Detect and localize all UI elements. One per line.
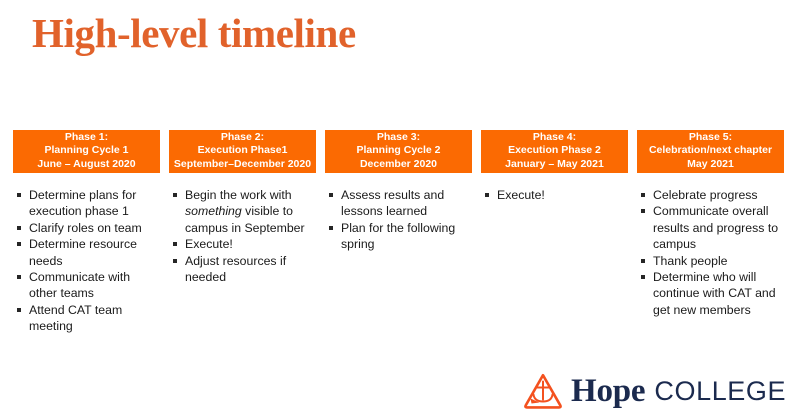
- phase-body: Determine plans for execution phase 1Cla…: [13, 173, 160, 335]
- phase-header-line: Execution Phase 2: [508, 144, 601, 157]
- bullet-text: Determine who will continue with CAT and…: [653, 270, 776, 317]
- bullet-text: Execute!: [185, 237, 233, 251]
- bullet-text: Determine plans for execution phase 1: [29, 188, 136, 218]
- bullet-text: Communicate overall results and progress…: [653, 204, 778, 251]
- list-item: Assess results and lessons learned: [328, 187, 472, 220]
- page-title: High-level timeline: [32, 8, 356, 58]
- phase-header-line: Phase 1:: [65, 131, 108, 144]
- bullet-text: Determine resource needs: [29, 237, 137, 267]
- bullet-text-emphasis: something: [185, 204, 242, 218]
- bullet-text: Attend CAT team meeting: [29, 303, 122, 333]
- phase-bullet-list: Begin the work with something visible to…: [169, 187, 316, 285]
- phase-header-line: Phase 5:: [689, 131, 732, 144]
- phase-header-line: September–December 2020: [174, 158, 311, 171]
- list-item: Execute!: [484, 187, 628, 203]
- phase-header-line: June – August 2020: [37, 158, 135, 171]
- bullet-text: Thank people: [653, 254, 728, 268]
- phase-bullet-list: Execute!: [481, 187, 628, 203]
- list-item: Communicate overall results and progress…: [640, 203, 784, 252]
- phase-body: Begin the work with something visible to…: [169, 173, 316, 285]
- phase-header-line: Planning Cycle 2: [356, 144, 440, 157]
- phase-body: Celebrate progressCommunicate overall re…: [637, 173, 784, 318]
- phase-header-3: Phase 3:Planning Cycle 2December 2020: [325, 130, 472, 173]
- list-item: Execute!: [172, 236, 316, 252]
- list-item: Attend CAT team meeting: [16, 302, 160, 335]
- phase-header-2: Phase 2:Execution Phase1September–Decemb…: [169, 130, 316, 173]
- hope-college-logo: Hope COLLEGE: [522, 371, 786, 411]
- bullet-text: Execute!: [497, 188, 545, 202]
- list-item: Determine who will continue with CAT and…: [640, 269, 784, 318]
- list-item: Determine resource needs: [16, 236, 160, 269]
- phase-header-line: Execution Phase1: [198, 144, 288, 157]
- logo-wordmark: Hope: [571, 375, 645, 408]
- phase-header-line: January – May 2021: [505, 158, 604, 171]
- list-item: Determine plans for execution phase 1: [16, 187, 160, 220]
- phase-header-line: May 2021: [687, 158, 734, 171]
- phase-header-line: December 2020: [360, 158, 437, 171]
- bullet-text: Adjust resources if needed: [185, 254, 286, 284]
- phase-bullet-list: Determine plans for execution phase 1Cla…: [13, 187, 160, 335]
- phase-header-5: Phase 5:Celebration/next chapterMay 2021: [637, 130, 784, 173]
- bullet-text: Celebrate progress: [653, 188, 758, 202]
- phase-header-line: Phase 3:: [377, 131, 420, 144]
- phase-body: Assess results and lessons learnedPlan f…: [325, 173, 472, 253]
- bullet-text: Plan for the following spring: [341, 221, 455, 251]
- list-item: Celebrate progress: [640, 187, 784, 203]
- bullet-text: Assess results and lessons learned: [341, 188, 444, 218]
- list-item: Communicate with other teams: [16, 269, 160, 302]
- phase-header-4: Phase 4:Execution Phase 2January – May 2…: [481, 130, 628, 173]
- phase-header-line: Planning Cycle 1: [44, 144, 128, 157]
- list-item: Thank people: [640, 253, 784, 269]
- phase-column: Phase 3:Planning Cycle 2December 2020Ass…: [325, 130, 472, 253]
- phase-column: Phase 2:Execution Phase1September–Decemb…: [169, 130, 316, 285]
- list-item: Begin the work with something visible to…: [172, 187, 316, 236]
- phase-header-line: Phase 4:: [533, 131, 576, 144]
- phase-column: Phase 5:Celebration/next chapterMay 2021…: [637, 130, 784, 318]
- phase-column: Phase 4:Execution Phase 2January – May 2…: [481, 130, 628, 203]
- phase-column: Phase 1:Planning Cycle 1June – August 20…: [13, 130, 160, 335]
- hope-anchor-triangle-icon: [522, 372, 564, 410]
- phase-bullet-list: Assess results and lessons learnedPlan f…: [325, 187, 472, 253]
- list-item: Adjust resources if needed: [172, 253, 316, 286]
- phase-header-1: Phase 1:Planning Cycle 1June – August 20…: [13, 130, 160, 173]
- slide-canvas: High-level timeline Phase 1:Planning Cyc…: [0, 0, 800, 419]
- bullet-text: Communicate with other teams: [29, 270, 130, 300]
- phase-header-line: Phase 2:: [221, 131, 264, 144]
- bullet-text-pre: Begin the work with: [185, 188, 292, 202]
- timeline-phase-row: Phase 1:Planning Cycle 1June – August 20…: [13, 130, 787, 335]
- phase-bullet-list: Celebrate progressCommunicate overall re…: [637, 187, 784, 318]
- list-item: Clarify roles on team: [16, 220, 160, 236]
- phase-header-line: Celebration/next chapter: [649, 144, 772, 157]
- list-item: Plan for the following spring: [328, 220, 472, 253]
- phase-body: Execute!: [481, 173, 628, 203]
- bullet-text: Clarify roles on team: [29, 221, 142, 235]
- logo-subword: COLLEGE: [654, 378, 786, 405]
